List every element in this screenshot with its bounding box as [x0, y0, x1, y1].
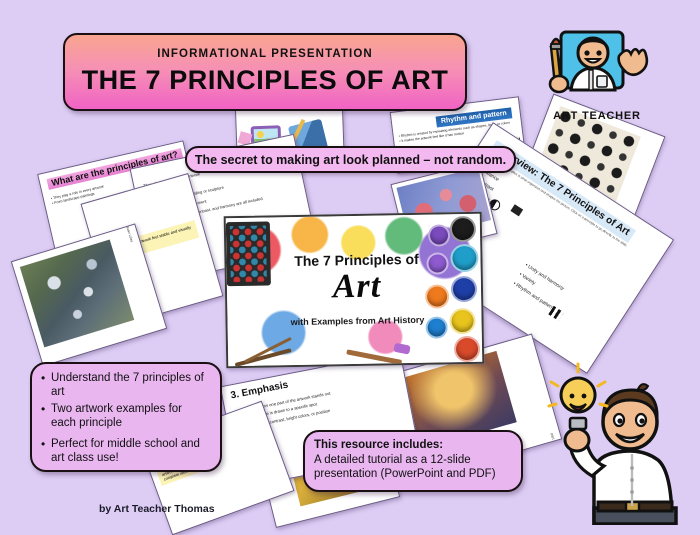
resource-heading: This resource includes:	[314, 439, 512, 451]
brand-name: ART TEACHER	[527, 110, 667, 122]
credit-line: by Art Teacher Thomas	[99, 503, 215, 515]
resource-card: This resource includes: A detailed tutor…	[303, 430, 523, 492]
page-title: THE 7 PRINCIPLES OF ART	[82, 65, 449, 96]
palette-wells	[230, 226, 267, 283]
kicker-label: INFORMATIONAL PRESENTATION	[157, 48, 373, 60]
tagline-text: The secret to making art look planned – …	[195, 153, 506, 167]
resource-body: A detailed tutorial as a 12-slide presen…	[314, 453, 512, 481]
features-card: Understand the 7 principles of art Two a…	[30, 362, 222, 472]
hero-title-script: Art	[277, 267, 438, 308]
idea-mascot	[546, 356, 698, 525]
slide-artwork-monet	[20, 240, 134, 348]
teacher-avatar-icon	[527, 22, 667, 110]
tagline-banner: The secret to making art look planned – …	[185, 146, 516, 173]
brand-logo: ART TEACHER	[527, 22, 667, 122]
man-with-lightbulb-icon	[546, 356, 698, 525]
hero-slide: The 7 Principles of Art with Examples fr…	[224, 212, 485, 368]
contrast-glyph-icon	[510, 204, 523, 216]
product-cover: Rhythm and pattern • Rhythm is created b…	[0, 0, 700, 525]
feature-item: Understand the 7 principles of art	[40, 372, 210, 399]
feature-item: Perfect for middle school and art class …	[40, 438, 210, 465]
feature-item: Two artwork examples for each principle	[40, 403, 210, 430]
title-banner: INFORMATIONAL PRESENTATION THE 7 PRINCIP…	[63, 33, 467, 111]
